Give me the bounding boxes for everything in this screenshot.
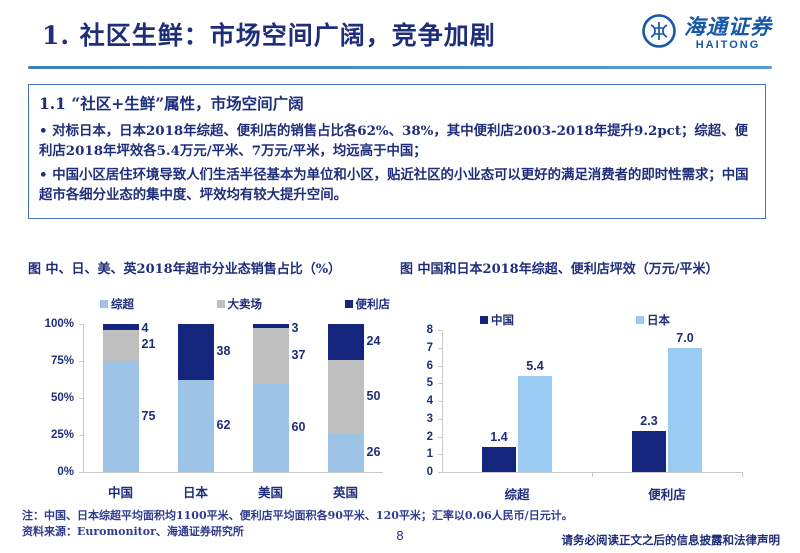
legend-item-综超: 综超 — [100, 296, 134, 312]
chart-sales-per-sqm: 图 中国和日本2018年综超、便利店坪效（万元/平米） 中国日本 0123456… — [400, 262, 772, 504]
summary-bullet-1: • 对标日本，日本2018年综超、便利店的销售占比各62%、38%，其中便利店2… — [39, 121, 755, 161]
summary-heading: 1.1 “社区+生鲜”属性，市场空间广阔 — [39, 92, 755, 114]
footer-note: 注：中国、日本综超平均面积均1100平米、便利店平均面积各90平米、120平米；… — [22, 508, 582, 524]
legend-label: 大卖场 — [228, 296, 263, 312]
chart-title-sales-per-sqm: 图 中国和日本2018年综超、便利店坪效（万元/平米） — [400, 262, 730, 279]
chart-plot-sales-per-sqm: 0123456781.45.4综超2.37.0便利店 — [400, 312, 772, 504]
y-tick-label: 2 — [400, 431, 433, 443]
y-tick-label: 1 — [400, 448, 433, 460]
summary-bullet-2: • 中国小区居住环境导致人们生活半径基本为单位和小区，贴近社区的小业态可以更好的… — [39, 165, 755, 205]
brand-name-en: HAITONG — [696, 40, 761, 51]
x-tick-mark — [742, 472, 743, 477]
bar-segment-大卖场 — [253, 328, 289, 383]
brand-name-cn: 海通证券 — [684, 16, 772, 37]
y-tick-label: 0% — [28, 466, 74, 478]
y-tick-mark — [438, 401, 442, 402]
y-axis-line — [442, 330, 443, 472]
bar-value-label: 38 — [217, 344, 231, 358]
chart-title-market-share: 图 中、日、美、英2018年超市分业态销售占比（%） — [28, 262, 396, 279]
header-divider — [28, 66, 772, 69]
x-category-label: 便利店 — [627, 484, 707, 503]
summary-box: 1.1 “社区+生鲜”属性，市场空间广阔 • 对标日本，日本2018年综超、便利… — [28, 84, 766, 219]
bar-value-label: 3 — [292, 321, 299, 335]
y-tick-mark — [438, 330, 442, 331]
bar-value-label: 62 — [217, 418, 231, 432]
y-tick-label: 8 — [400, 324, 433, 336]
y-tick-mark — [79, 324, 83, 325]
x-category-label: 综超 — [477, 484, 557, 503]
y-tick-label: 7 — [400, 342, 433, 354]
bar-value-label: 4 — [142, 321, 149, 335]
haitong-circle-emblem-icon — [642, 14, 676, 53]
x-axis-line — [83, 472, 383, 473]
page-title: 1. 社区生鲜：市场空间广阔，竞争加剧 — [42, 16, 496, 52]
y-tick-mark — [438, 437, 442, 438]
disclaimer-text: 请务必阅读正文之后的信息披露和法律声明 — [562, 532, 781, 548]
y-tick-label: 25% — [28, 429, 74, 441]
y-axis-line — [83, 324, 84, 472]
y-tick-mark — [438, 348, 442, 349]
bar-segment-综超 — [253, 383, 289, 472]
legend-item-大卖场: 大卖场 — [217, 296, 263, 312]
bar-value-label: 2.3 — [632, 414, 666, 428]
bar-value-label: 5.4 — [518, 359, 552, 373]
bar-日本 — [518, 376, 552, 472]
bar-segment-大卖场 — [103, 330, 139, 361]
x-category-label: 英国 — [311, 482, 381, 501]
y-tick-mark — [438, 472, 442, 473]
bar-value-label: 24 — [367, 334, 381, 348]
y-tick-label: 50% — [28, 392, 74, 404]
y-tick-mark — [438, 419, 442, 420]
y-tick-mark — [79, 435, 83, 436]
legend-swatch-icon — [100, 300, 108, 308]
y-tick-mark — [438, 383, 442, 384]
y-tick-label: 75% — [28, 355, 74, 367]
x-tick-mark — [592, 472, 593, 477]
bar-value-label: 21 — [142, 337, 156, 351]
bar-value-label: 75 — [142, 409, 156, 423]
y-tick-label: 100% — [28, 318, 74, 330]
y-tick-mark — [79, 361, 83, 362]
charts-row: 图 中、日、美、英2018年超市分业态销售占比（%） 综超大卖场便利店 0%25… — [0, 262, 800, 504]
bar-value-label: 37 — [292, 348, 306, 362]
y-tick-label: 0 — [400, 466, 433, 478]
bar-segment-便利店 — [103, 324, 139, 330]
bar-日本 — [668, 348, 702, 472]
legend-swatch-icon — [345, 300, 353, 308]
legend-label: 便利店 — [356, 296, 391, 312]
bar-segment-综超 — [178, 380, 214, 472]
slide-header: 1. 社区生鲜：市场空间广阔，竞争加剧 海通证券 HAITONG — [0, 0, 800, 72]
y-tick-mark — [79, 472, 83, 473]
bar-value-label: 60 — [292, 420, 306, 434]
bar-segment-便利店 — [178, 324, 214, 380]
bar-value-label: 50 — [367, 389, 381, 403]
legend-swatch-icon — [217, 300, 225, 308]
bar-value-label: 26 — [367, 445, 381, 459]
brand-logo: 海通证券 HAITONG — [642, 14, 772, 53]
y-tick-mark — [438, 454, 442, 455]
y-tick-mark — [438, 366, 442, 367]
bar-中国 — [632, 431, 666, 472]
bar-segment-综超 — [328, 434, 364, 472]
chart-market-share: 图 中、日、美、英2018年超市分业态销售占比（%） 综超大卖场便利店 0%25… — [28, 262, 396, 504]
x-category-label: 美国 — [236, 482, 306, 501]
y-tick-label: 5 — [400, 377, 433, 389]
y-tick-label: 6 — [400, 360, 433, 372]
bar-value-label: 7.0 — [668, 331, 702, 345]
brand-logo-text: 海通证券 HAITONG — [684, 16, 772, 51]
legend-label: 综超 — [111, 296, 134, 312]
y-tick-mark — [79, 398, 83, 399]
chart-plot-market-share: 0%25%50%75%100%75214中国6238日本60373美国26502… — [28, 314, 396, 504]
x-category-label: 中国 — [86, 482, 156, 501]
x-category-label: 日本 — [161, 482, 231, 501]
bar-segment-大卖场 — [328, 360, 364, 434]
bar-segment-便利店 — [253, 324, 289, 328]
bar-segment-便利店 — [328, 324, 364, 360]
y-tick-label: 4 — [400, 395, 433, 407]
bar-value-label: 1.4 — [482, 430, 516, 444]
bar-segment-综超 — [103, 361, 139, 472]
chart-legend-market-share: 综超大卖场便利店 — [100, 296, 390, 312]
legend-item-便利店: 便利店 — [345, 296, 391, 312]
bar-中国 — [482, 447, 516, 472]
y-tick-label: 3 — [400, 413, 433, 425]
